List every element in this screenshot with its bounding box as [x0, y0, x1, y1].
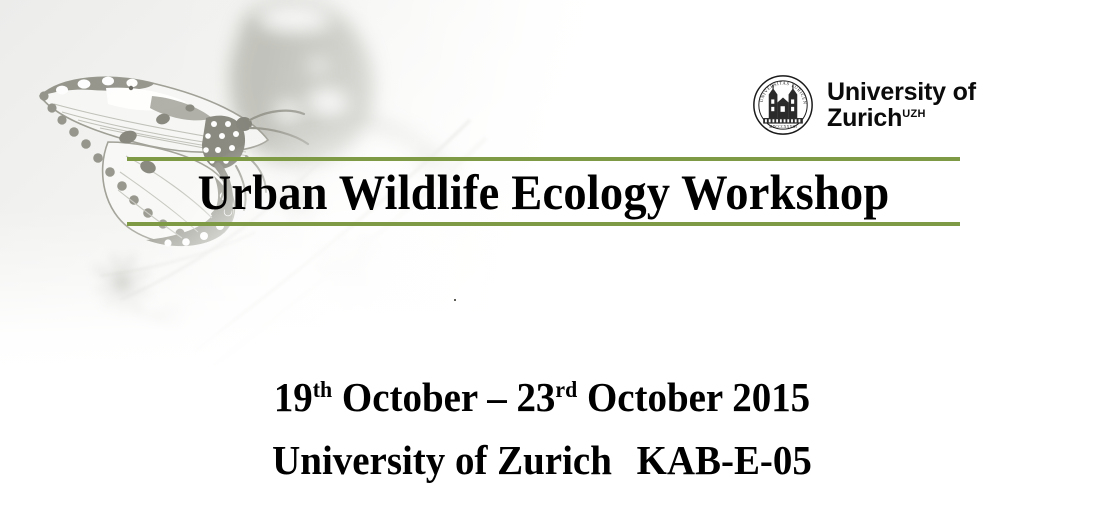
start-day: 19 [274, 374, 313, 420]
end-month-year: October 2015 [577, 374, 810, 420]
scan-speck [454, 299, 456, 301]
event-venue-line: University of ZurichKAB-E-05 [162, 429, 922, 492]
wordmark-line-1: University of [827, 79, 976, 105]
page-title: Urban Wildlife Ecology Workshop [156, 161, 931, 222]
blurred-butterfly [230, 0, 461, 176]
end-day: 23 [507, 374, 556, 420]
poster-canvas: UNIVERSITAS TURICENSIS [0, 0, 1100, 521]
title-rule-bottom [127, 222, 960, 226]
start-day-ordinal: th [313, 377, 332, 402]
end-day-ordinal: rd [555, 377, 577, 402]
date-range-dash: – [487, 374, 506, 420]
wordmark-line-2: ZurichUZH [827, 105, 976, 131]
university-logo: UNIVERSITAS TURICENSIS [752, 74, 976, 136]
start-month: October [332, 374, 487, 420]
university-of-zurich-seal-icon: UNIVERSITAS TURICENSIS [752, 74, 814, 136]
event-details: 19th October – 23rd October 2015 Univers… [142, 358, 942, 492]
event-dates: 19th October – 23rd October 2015 [162, 358, 922, 429]
wordmark-zurich: Zurich [827, 104, 902, 132]
wordmark-uzh: UZH [902, 108, 926, 120]
venue-name: University of Zurich [272, 437, 612, 483]
svg-text:MDCCCXXXIII: MDCCCXXXIII [769, 125, 797, 129]
lower-flower [96, 257, 182, 325]
university-wordmark: University of ZurichUZH [827, 79, 976, 131]
room-code: KAB-E-05 [637, 437, 812, 483]
